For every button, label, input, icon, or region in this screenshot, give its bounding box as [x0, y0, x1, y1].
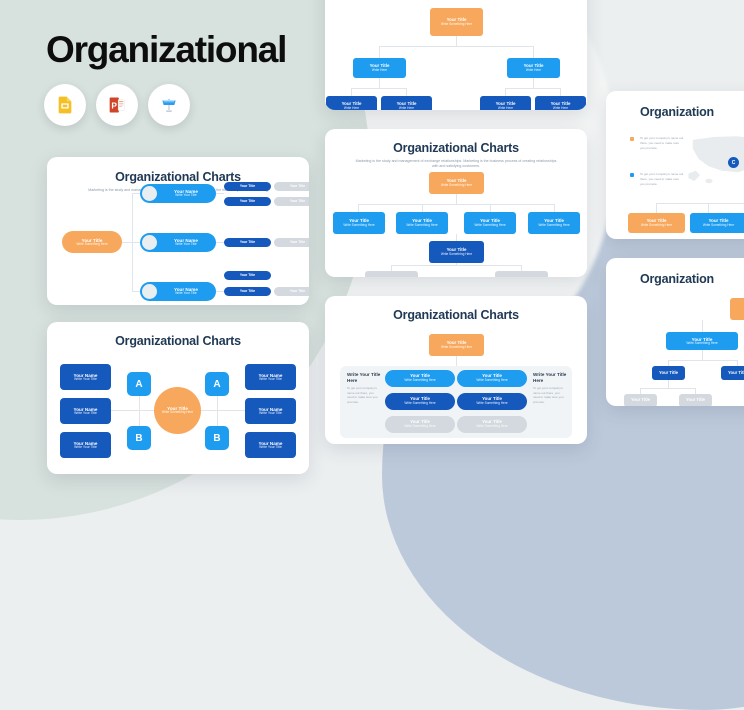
- title-pill[interactable]: Your Title: [224, 182, 271, 191]
- node-line2: Write Here: [372, 69, 387, 73]
- connector: [358, 204, 359, 212]
- node-line2: Write Your Title: [74, 446, 97, 450]
- node-line2: Write Something Here: [686, 342, 717, 346]
- connector: [490, 204, 491, 212]
- left-heading: Write Your Title Here: [347, 372, 381, 383]
- person-box-left-1[interactable]: Your Name Write Your Title: [60, 364, 111, 390]
- connector: [702, 320, 703, 332]
- title-pill[interactable]: Your Title: [224, 287, 271, 296]
- letter-badge-a-right[interactable]: A: [205, 372, 229, 396]
- connector: [132, 242, 140, 243]
- pill-label: Your Title: [290, 290, 305, 294]
- org-node-l2-1[interactable]: Your Title Write Something Here: [333, 212, 385, 234]
- org-node-l3-1[interactable]: Your Title: [652, 366, 685, 380]
- slide-card-people-pills[interactable]: Organizational Charts Marketing is the s…: [47, 157, 309, 305]
- letter-badge-b-left[interactable]: B: [127, 426, 151, 450]
- title-pill[interactable]: Your Title: [274, 197, 309, 206]
- connector: [708, 203, 709, 213]
- card-title: Organizational Charts: [325, 308, 587, 322]
- pill-label: Your Title: [240, 185, 255, 189]
- title-button-orange[interactable]: Your Title Write Something Here: [628, 213, 685, 233]
- node-line1: Your Title: [659, 371, 678, 376]
- pill-label: Your Title: [290, 241, 305, 245]
- connector: [379, 46, 380, 58]
- connector: [533, 78, 534, 88]
- org-node-root[interactable]: Your Title Write Something Here: [429, 334, 484, 356]
- connector: [554, 204, 555, 212]
- node-line2: Write Something Here: [476, 402, 507, 406]
- avatar: [142, 235, 157, 250]
- connector: [216, 242, 224, 243]
- node-line1: Your Title: [631, 398, 650, 403]
- keynote-icon[interactable]: [148, 84, 190, 126]
- title-pill[interactable]: Your Title: [224, 271, 271, 280]
- person-title: Write Your Title: [175, 292, 196, 296]
- node-line2: Write Something Here: [441, 184, 472, 188]
- pill-node-r1[interactable]: Your Title Write Something Here: [457, 370, 527, 387]
- card-title: Organization: [640, 105, 744, 119]
- node-line2: Write Something Here: [406, 224, 437, 228]
- node-line2: Write Here: [526, 69, 541, 73]
- pill-label: Your Title: [240, 241, 255, 245]
- letter-badge-b-right[interactable]: B: [205, 426, 229, 450]
- connector: [422, 204, 423, 212]
- title-pill[interactable]: Your Title: [224, 197, 271, 206]
- title-pill[interactable]: Your Title: [274, 287, 309, 296]
- node-line2: Write Something Here: [343, 224, 374, 228]
- connector: [216, 193, 224, 194]
- pill-label: Your Title: [290, 185, 305, 189]
- left-body: To get your company's name out there, yo…: [347, 386, 381, 404]
- page-title: Organizational: [46, 31, 286, 68]
- google-slides-icon[interactable]: [44, 84, 86, 126]
- pill-label: Your Title: [290, 200, 305, 204]
- connector: [702, 350, 703, 360]
- node-line2: Write Something Here: [404, 379, 435, 383]
- node-line2: Write Something Here: [441, 253, 472, 257]
- slide-card-tree-mid[interactable]: Organizational Charts Marketing is the s…: [325, 129, 587, 277]
- org-node-l4-1[interactable]: Your Title Write Something Here: [365, 271, 418, 277]
- person-box-right-1[interactable]: Your Name Write Your Title: [245, 364, 296, 390]
- org-node-root[interactable]: Your Title Write Something Here: [430, 8, 483, 36]
- node-line2: Write Here: [344, 107, 359, 110]
- person-box-right-2[interactable]: Your Name Write Your Title: [245, 398, 296, 424]
- person-box-left-2[interactable]: Your Name Write Your Title: [60, 398, 111, 424]
- node-line2: Write Something Here: [474, 224, 505, 228]
- slide-card-map[interactable]: Organization C A To get your company's n…: [606, 91, 744, 239]
- pill-label: Your Title: [240, 200, 255, 204]
- node-line2: Write Something Here: [76, 243, 107, 247]
- center-circle-node[interactable]: Your Title Write Something Here: [154, 387, 201, 434]
- title-pill[interactable]: Your Title: [274, 182, 309, 191]
- pill-node-l1[interactable]: Your Title Write Something Here: [385, 370, 455, 387]
- connector: [351, 88, 407, 89]
- org-node-l2-1[interactable]: Your Title Write Here: [353, 58, 406, 78]
- connector: [132, 291, 140, 292]
- node-line2: Write Something Here: [476, 379, 507, 383]
- connector: [560, 88, 561, 96]
- org-node-l2-4[interactable]: Your Title Write Something Here: [528, 212, 580, 234]
- connector: [456, 234, 457, 241]
- slide-card-tree-top[interactable]: Your Title Write Something Here Your Tit…: [325, 0, 587, 110]
- bullet-text-1: To get your company's name out there, yo…: [640, 136, 684, 150]
- letter: A: [135, 379, 142, 390]
- node-line2: Write Something Here: [538, 224, 569, 228]
- node-line2: Write Your Title: [74, 378, 97, 382]
- node-line1: Your Title: [686, 398, 705, 403]
- org-node-l2-2[interactable]: Your Title Write Here: [507, 58, 560, 78]
- letter: B: [135, 433, 142, 444]
- connector: [122, 242, 132, 243]
- node-line1: Your Title: [728, 371, 744, 376]
- person-node-1[interactable]: Your Name Write Your Title: [140, 184, 216, 203]
- pill-node-l3[interactable]: Your Title Write Something Here: [385, 416, 455, 433]
- node-line2: Write Something Here: [404, 425, 435, 429]
- org-node-l2[interactable]: Your Title Write Something Here: [666, 332, 738, 350]
- letter: A: [213, 379, 220, 390]
- title-pill[interactable]: Your Title: [224, 238, 271, 247]
- connector: [656, 203, 657, 213]
- right-body: To get your company's name out there, yo…: [533, 386, 567, 404]
- connector: [351, 88, 352, 96]
- avatar: [142, 284, 157, 299]
- title-button-blue-light[interactable]: Your Title Write Something Here: [690, 213, 744, 233]
- node-line2: Write Here: [399, 107, 414, 110]
- node-line2: Write Your Title: [259, 412, 282, 416]
- node-line2: Write Here: [553, 107, 568, 110]
- org-node-l2-2[interactable]: Your Title Write Something Here: [396, 212, 448, 234]
- org-node-l3[interactable]: Your Title Write Something Here: [429, 241, 484, 263]
- org-node-l2-3[interactable]: Your Title Write Something Here: [464, 212, 516, 234]
- connector: [668, 380, 669, 388]
- letter-badge-a-left[interactable]: A: [127, 372, 151, 396]
- node-line2: Write Something Here: [162, 411, 193, 415]
- connector: [379, 46, 534, 47]
- person-node-3[interactable]: Your Name Write Your Title: [140, 282, 216, 301]
- app-icon-row: P: [44, 84, 190, 126]
- org-node-l3-3[interactable]: Your Title Write Here: [480, 96, 531, 110]
- connector: [505, 88, 506, 96]
- card-title: Organizational Charts: [47, 170, 309, 184]
- connector: [640, 388, 696, 389]
- connector: [668, 360, 738, 361]
- pin-label: C: [732, 160, 736, 166]
- org-node-root[interactable]: Your Title Write Something Here: [62, 231, 122, 253]
- person-box-right-3[interactable]: Your Name Write Your Title: [245, 432, 296, 458]
- connector: [391, 265, 522, 266]
- connector: [379, 78, 380, 88]
- node-line2: Write Here: [498, 107, 513, 110]
- connector: [456, 36, 457, 46]
- powerpoint-icon[interactable]: P: [96, 84, 138, 126]
- node-line2: Write Something Here: [441, 23, 472, 27]
- slide-card-two-column[interactable]: Organizational Charts Your Title Write S…: [325, 296, 587, 444]
- card-title: Organizational Charts: [325, 141, 587, 155]
- person-title: Write Your Title: [175, 194, 196, 198]
- org-node-l3-4[interactable]: Your Title Write Here: [535, 96, 586, 110]
- pill-node-l2[interactable]: Your Title Write Something Here: [385, 393, 455, 410]
- node-line2: Write Something Here: [476, 425, 507, 429]
- person-box-left-3[interactable]: Your Name Write Your Title: [60, 432, 111, 458]
- slide-card-radial[interactable]: Organizational Charts Your Name Write Yo…: [47, 322, 309, 474]
- org-node-l4-2[interactable]: Your Title: [679, 394, 712, 406]
- org-node-l3-1[interactable]: Your Title Write Here: [326, 96, 377, 110]
- bullet-marker-blue: [630, 173, 634, 177]
- org-node-l3-2[interactable]: Your Title: [721, 366, 744, 380]
- svg-text:P: P: [111, 100, 117, 110]
- pill-label: Your Title: [240, 290, 255, 294]
- bullet-marker-orange: [630, 137, 634, 141]
- node-line2: Write Your Title: [259, 446, 282, 450]
- org-node-l3-2[interactable]: Your Title Write Here: [381, 96, 432, 110]
- bullet-text-2: To get your company's name out there, yo…: [640, 172, 684, 186]
- connector: [656, 203, 744, 204]
- connector: [456, 194, 457, 204]
- connector: [406, 88, 407, 96]
- card-title: Organization: [640, 272, 744, 286]
- map-pin-c[interactable]: C: [728, 157, 739, 168]
- pill-label: Your Title: [240, 274, 255, 278]
- card-title: Organizational Charts: [47, 334, 309, 348]
- slide-card-tree-right[interactable]: Organization Your Title Write Something …: [606, 258, 744, 406]
- avatar: [142, 186, 157, 201]
- node-line2: Write Something Here: [441, 346, 472, 350]
- node-line2: Write Something Here: [641, 224, 672, 228]
- card-subtitle: Marketing is the study and management of…: [355, 159, 557, 169]
- node-line2: Write Your Title: [74, 412, 97, 416]
- pill-node-r2[interactable]: Your Title Write Something Here: [457, 393, 527, 410]
- node-line2: Write Something Here: [404, 402, 435, 406]
- org-node-root[interactable]: Your Title Write Something Here: [730, 298, 744, 320]
- org-node-l4-1[interactable]: Your Title: [624, 394, 657, 406]
- connector: [358, 204, 555, 205]
- pill-node-r3[interactable]: Your Title Write Something Here: [457, 416, 527, 433]
- title-pill[interactable]: Your Title: [274, 238, 309, 247]
- org-node-l4-2[interactable]: Your Title Write Something Here: [495, 271, 548, 277]
- connector: [456, 356, 457, 366]
- connector: [505, 88, 561, 89]
- connector: [132, 193, 140, 194]
- node-line2: Write Something Here: [703, 224, 734, 228]
- letter: B: [213, 433, 220, 444]
- connector: [533, 46, 534, 58]
- right-heading: Write Your Title Here: [533, 372, 567, 383]
- node-line2: Write Your Title: [259, 378, 282, 382]
- person-title: Write Your Title: [175, 243, 196, 247]
- connector: [216, 291, 224, 292]
- person-node-2[interactable]: Your Name Write Your Title: [140, 233, 216, 252]
- org-node-root[interactable]: Your Title Write Something Here: [429, 172, 484, 194]
